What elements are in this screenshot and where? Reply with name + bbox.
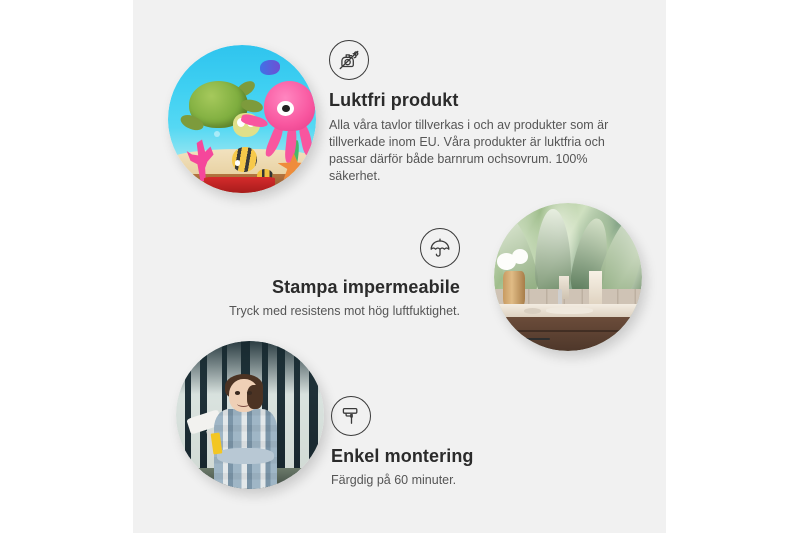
feature-title: Enkel montering xyxy=(331,446,611,467)
umbrella-icon xyxy=(420,228,460,268)
photo-bathroom-inner xyxy=(494,203,642,351)
drawer-handle xyxy=(518,338,551,340)
feature-odorless: Luktfri produkt Alla våra tavlor tillver… xyxy=(329,40,629,185)
vanity-cabinet xyxy=(494,317,642,351)
feature-title: Stampa impermeabile xyxy=(180,277,460,298)
photo-forest-inner xyxy=(176,341,324,489)
sink-basin xyxy=(546,307,593,314)
octopus-eye xyxy=(277,101,294,116)
toiletry-bottle xyxy=(589,271,602,308)
bubble-icon xyxy=(214,131,220,137)
feature-description: Tryck med resistens mot hög luftfuktighe… xyxy=(180,303,460,320)
underwater-foreground-object xyxy=(204,177,275,193)
feature-assembly: Enkel montering Färgdig på 60 minuter. xyxy=(331,396,611,489)
feature-description: Alla våra tavlor tillverkas i och av pro… xyxy=(329,117,619,185)
screenshot-stage: Luktfri produkt Alla våra tavlor tillver… xyxy=(0,0,800,533)
paint-roller-icon xyxy=(331,396,371,436)
photo-forest-mural xyxy=(176,341,324,489)
feature-waterproof: Stampa impermeabile Tryck med resistens … xyxy=(180,228,460,320)
person-smile xyxy=(237,400,250,407)
striped-fish-icon xyxy=(232,147,257,172)
octopus-icon xyxy=(264,81,314,131)
photo-underwater-inner xyxy=(168,45,316,193)
no-odor-perfume-icon xyxy=(329,40,369,80)
blue-fish-icon xyxy=(260,60,281,75)
soap-dish xyxy=(524,308,542,314)
person-arms xyxy=(217,448,273,464)
person-hair xyxy=(247,385,263,409)
photo-bathroom-wallpaper xyxy=(494,203,642,351)
photo-underwater-mural xyxy=(168,45,316,193)
person-eye xyxy=(235,391,240,394)
flower-icon xyxy=(512,249,528,264)
cabinet-handle xyxy=(618,332,624,343)
feature-description: Färgdig på 60 minuter. xyxy=(331,472,611,489)
feature-title: Luktfri produkt xyxy=(329,90,629,111)
person-eye xyxy=(247,391,252,394)
